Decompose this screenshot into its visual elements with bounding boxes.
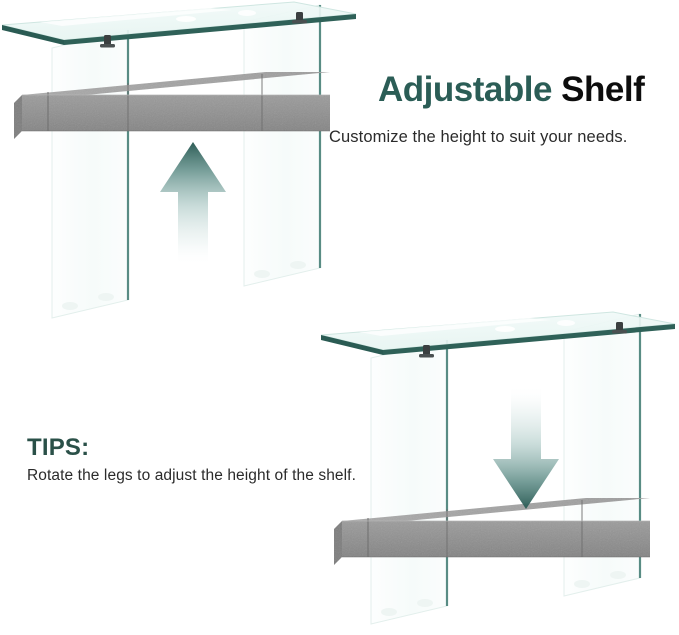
glass-leg-right bbox=[244, 5, 320, 286]
tips-heading: TIPS: bbox=[27, 434, 89, 462]
down-arrow bbox=[489, 385, 563, 511]
product-feature-graphic: Adjustable Shelf Customize the height to… bbox=[0, 0, 679, 635]
headline-word-adjustable: Adjustable bbox=[378, 70, 552, 109]
up-arrow bbox=[156, 140, 230, 266]
headline: Adjustable Shelf bbox=[378, 72, 678, 109]
tips-description: Rotate the legs to adjust the height of … bbox=[27, 467, 356, 485]
glass-leg-left bbox=[52, 30, 128, 318]
glass-leg-left bbox=[371, 340, 447, 624]
headline-word-shelf: Shelf bbox=[561, 70, 644, 109]
subheadline: Customize the height to suit your needs. bbox=[329, 128, 674, 147]
